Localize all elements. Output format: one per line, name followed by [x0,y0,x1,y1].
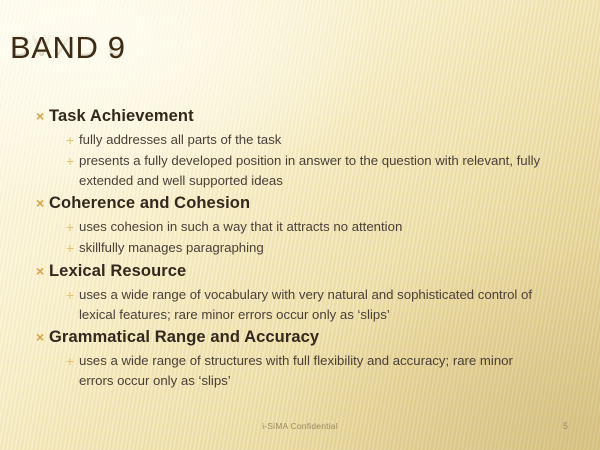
bullet-level2: + skillfully manages paragraphing [30,238,575,258]
plus-mark-icon: + [30,151,79,171]
x-mark-icon: × [30,104,49,128]
bullet-level2: + presents a fully developed position in… [30,151,575,190]
bullet-group: × Task Achievement + fully addresses all… [30,104,575,190]
bullet-level2: + uses a wide range of structures with f… [30,351,575,390]
footer-confidentiality-note: i-SiMA Confidential [0,421,600,431]
bullet-level2-label: fully addresses all parts of the task [79,130,281,150]
plus-mark-icon: + [30,130,79,150]
slide-body: × Task Achievement + fully addresses all… [30,104,575,391]
x-mark-icon: × [30,259,49,283]
bullet-level2-label: presents a fully developed position in a… [79,151,549,190]
plus-mark-icon: + [30,217,79,237]
bullet-group: × Coherence and Cohesion + uses cohesion… [30,191,575,258]
bullet-level1-label: Grammatical Range and Accuracy [49,325,319,349]
bullet-level2: + uses cohesion in such a way that it at… [30,217,575,237]
bullet-level1: × Lexical Resource [30,259,575,283]
page-title-reflection: BAND 9 [10,27,570,63]
bullet-level2-label: uses a wide range of vocabulary with ver… [79,285,549,324]
bullet-level2-label: skillfully manages paragraphing [79,238,264,258]
bullet-level1-label: Coherence and Cohesion [49,191,250,215]
x-mark-icon: × [30,191,49,215]
bullet-level1-label: Task Achievement [49,104,194,128]
slide-title-area: BAND 9 BAND 9 [10,30,570,100]
plus-mark-icon: + [30,238,79,258]
footer-page-number: 5 [563,421,568,431]
presentation-slide: BAND 9 BAND 9 × Task Achievement + fully… [0,0,600,450]
plus-mark-icon: + [30,285,79,305]
bullet-level1: × Coherence and Cohesion [30,191,575,215]
bullet-group: × Grammatical Range and Accuracy + uses … [30,325,575,390]
bullet-level1: × Grammatical Range and Accuracy [30,325,575,349]
x-mark-icon: × [30,325,49,349]
bullet-group: × Lexical Resource + uses a wide range o… [30,259,575,324]
bullet-level2: + fully addresses all parts of the task [30,130,575,150]
bullet-level2-label: uses a wide range of structures with ful… [79,351,549,390]
bullet-level1-label: Lexical Resource [49,259,186,283]
bullet-level1: × Task Achievement [30,104,575,128]
bullet-level2-label: uses cohesion in such a way that it attr… [79,217,402,237]
bullet-level2: + uses a wide range of vocabulary with v… [30,285,575,324]
plus-mark-icon: + [30,351,79,371]
